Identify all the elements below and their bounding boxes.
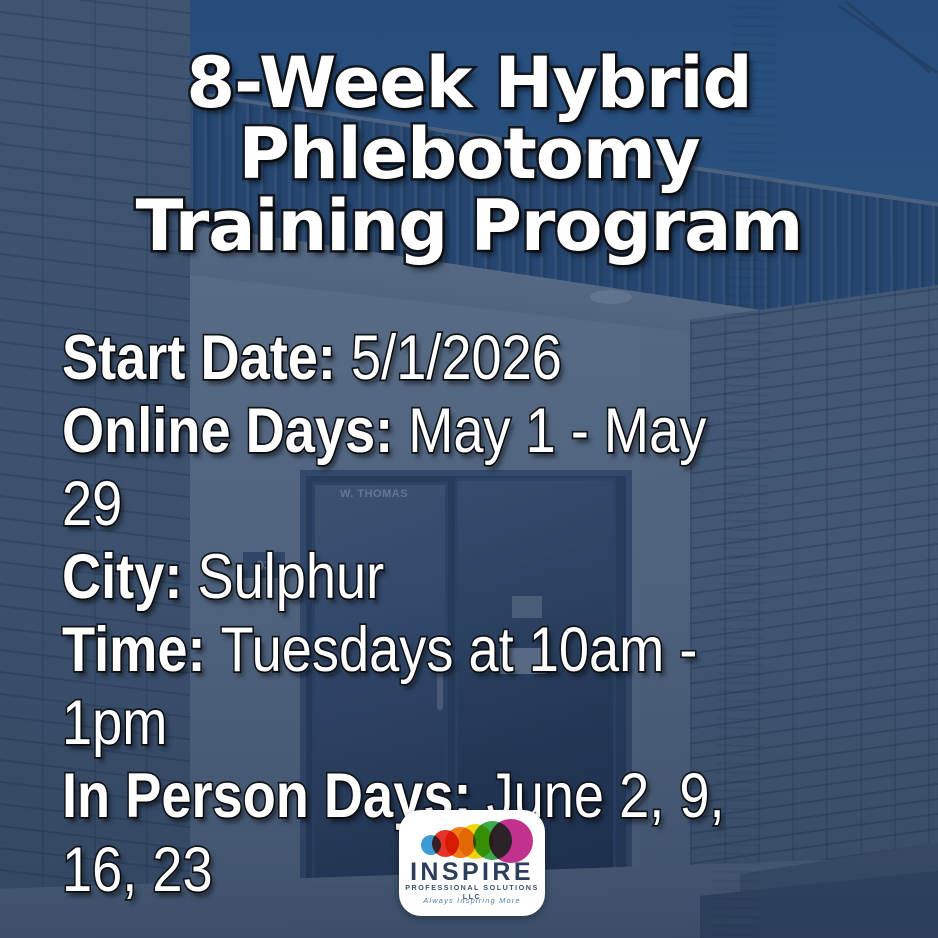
page-title: 8-Week Hybrid Phlebotomy Training Progra… xyxy=(0,48,938,262)
detail-label: City: xyxy=(62,542,197,612)
detail-label: Time: xyxy=(62,615,221,685)
logo-tagline: Always Inspiring More xyxy=(399,896,545,905)
detail-row-start-date: Start Date: 5/1/2026 xyxy=(62,322,781,395)
promo-poster: INSPIRE PROFESSIONAL W. THOMAS 03 8-Week… xyxy=(0,0,938,938)
detail-row-time: Time: Tuesdays at 10am - 1pm xyxy=(62,614,781,760)
detail-value: Sulphur xyxy=(197,542,384,612)
poster-content: 8-Week Hybrid Phlebotomy Training Progra… xyxy=(0,0,938,938)
detail-row-city: City: Sulphur xyxy=(62,541,781,614)
logo-dot-magenta xyxy=(489,819,533,863)
logo-dots-icon xyxy=(399,819,545,859)
detail-label: Start Date: xyxy=(62,323,351,393)
title-line-3: Training Program xyxy=(0,191,938,262)
title-line-2: Phlebotomy xyxy=(0,119,938,190)
title-line-1: 8-Week Hybrid xyxy=(0,48,938,119)
detail-value: 5/1/2026 xyxy=(351,323,562,393)
detail-label: Online Days: xyxy=(62,396,408,466)
detail-row-online-days: Online Days: May 1 - May 29 xyxy=(62,395,781,541)
inspire-logo: INSPIRE PROFESSIONAL SOLUTIONS LLC Alway… xyxy=(399,810,545,916)
